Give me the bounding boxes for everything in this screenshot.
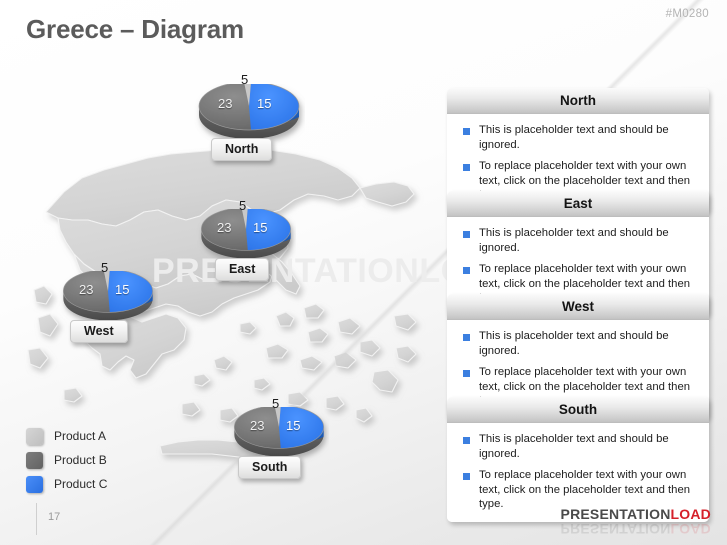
pie-chart-south[interactable]: 5 23 15 South bbox=[229, 407, 349, 463]
brand-logo: PRESENTATIONLOAD bbox=[561, 506, 711, 522]
legend-swatch-product-c bbox=[26, 476, 43, 493]
legend-item-product-a[interactable]: Product A bbox=[26, 424, 107, 448]
bullet-square-icon bbox=[463, 473, 470, 480]
pie-east-label[interactable]: East bbox=[215, 258, 269, 281]
panel-east-heading: East bbox=[447, 191, 709, 217]
bullet-square-icon bbox=[463, 437, 470, 444]
bullet-square-icon bbox=[463, 128, 470, 135]
bullet-square-icon bbox=[463, 370, 470, 377]
bullet-item[interactable]: This is placeholder text and should be i… bbox=[457, 432, 699, 461]
panel-south[interactable]: South This is placeholder text and shoul… bbox=[447, 397, 709, 522]
bullet-text: This is placeholder text and should be i… bbox=[479, 123, 699, 152]
footer-divider bbox=[36, 503, 37, 535]
bullet-text: This is placeholder text and should be i… bbox=[479, 226, 699, 255]
slide-canvas: PRESENTATIONLOAD Greece – Diagram #M0280 bbox=[0, 0, 727, 545]
bullet-item[interactable]: This is placeholder text and should be i… bbox=[457, 329, 699, 358]
legend-item-product-c[interactable]: Product C bbox=[26, 472, 107, 496]
pie-chart-east[interactable]: 5 23 15 East bbox=[196, 209, 316, 265]
legend-swatch-product-a bbox=[26, 428, 43, 445]
panel-west-heading: West bbox=[447, 294, 709, 320]
panel-north-heading: North bbox=[447, 88, 709, 114]
bullet-text: This is placeholder text and should be i… bbox=[479, 432, 699, 461]
panel-south-heading: South bbox=[447, 397, 709, 423]
pie-south-svg bbox=[229, 407, 329, 463]
pie-south-label[interactable]: South bbox=[238, 456, 301, 479]
page-number: 17 bbox=[48, 511, 60, 523]
bullet-text: To replace placeholder text with your ow… bbox=[479, 468, 699, 512]
pie-north-label[interactable]: North bbox=[211, 138, 272, 161]
pie-west-label[interactable]: West bbox=[70, 320, 128, 343]
legend-item-product-b[interactable]: Product B bbox=[26, 448, 107, 472]
brand-part2: LOAD bbox=[671, 506, 711, 522]
bullet-square-icon bbox=[463, 164, 470, 171]
pie-chart-north[interactable]: 5 23 15 North bbox=[193, 84, 313, 146]
brand-part1: PRESENTATION bbox=[561, 506, 671, 522]
legend-label-product-c: Product C bbox=[54, 477, 107, 491]
pie-west-svg bbox=[58, 271, 158, 327]
bullet-item[interactable]: This is placeholder text and should be i… bbox=[457, 123, 699, 152]
document-id: #M0280 bbox=[666, 8, 709, 20]
bullet-item[interactable]: This is placeholder text and should be i… bbox=[457, 226, 699, 255]
bullet-item[interactable]: To replace placeholder text with your ow… bbox=[457, 468, 699, 512]
legend-swatch-product-b bbox=[26, 452, 43, 469]
legend: Product A Product B Product C bbox=[26, 424, 107, 496]
pie-east-svg bbox=[196, 209, 296, 265]
brand-reflect-part2: LOAD bbox=[671, 521, 711, 537]
legend-label-product-a: Product A bbox=[54, 429, 106, 443]
pie-north-svg bbox=[193, 84, 305, 146]
bullet-text: This is placeholder text and should be i… bbox=[479, 329, 699, 358]
brand-logo-reflection: PRESENTATIONLOAD bbox=[561, 521, 711, 537]
bullet-square-icon bbox=[463, 231, 470, 238]
brand-reflect-part1: PRESENTATION bbox=[561, 521, 671, 537]
page-title: Greece – Diagram bbox=[26, 14, 244, 45]
bullet-square-icon bbox=[463, 334, 470, 341]
legend-label-product-b: Product B bbox=[54, 453, 107, 467]
pie-chart-west[interactable]: 5 23 15 West bbox=[58, 271, 178, 327]
bullet-square-icon bbox=[463, 267, 470, 274]
